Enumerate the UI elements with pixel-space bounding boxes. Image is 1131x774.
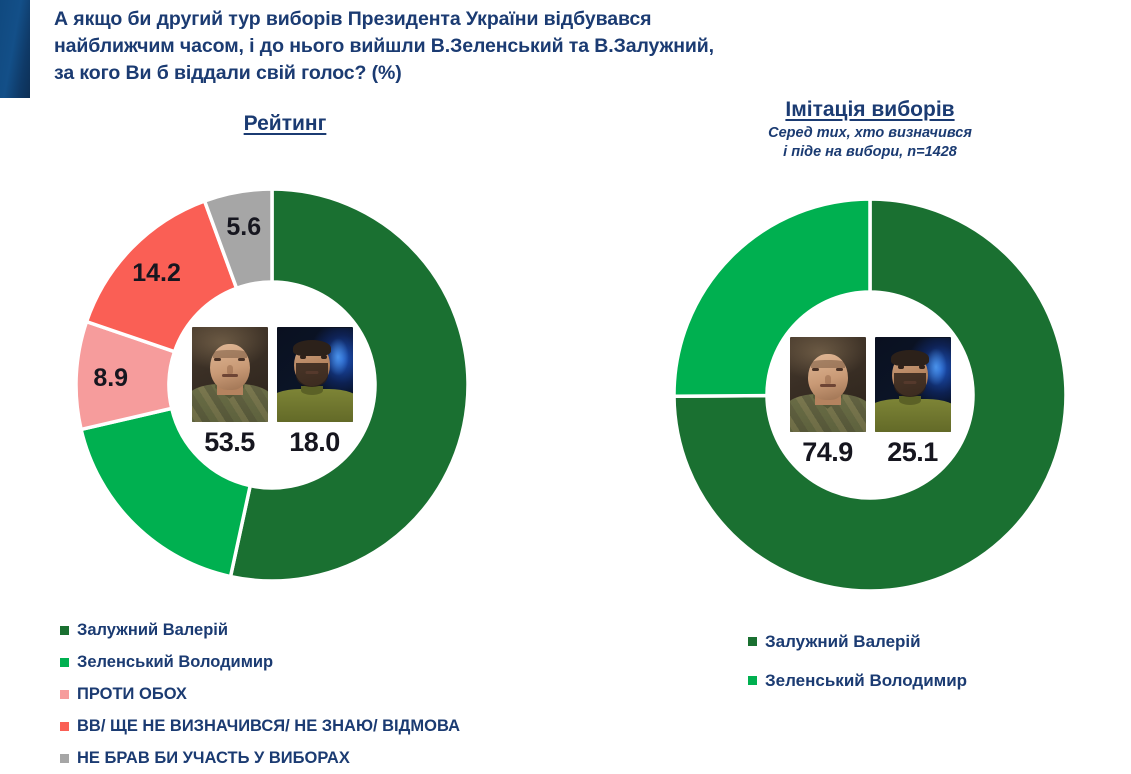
rating-donut-chart: 8.914.25.6 53.5 [72,185,472,585]
rating-donut-svg: 8.914.25.6 [72,185,472,585]
simulation-donut-svg [670,195,1070,595]
legend-item[interactable]: Зеленський Володимир [60,646,460,678]
page-title: А якщо би другий тур виборів Президента … [54,6,854,87]
donut-slice-1[interactable] [674,199,870,396]
slide-canvas: А якщо би другий тур виборів Президента … [0,0,1131,768]
legend-label: Зеленський Володимир [765,672,967,690]
legend-swatch-icon [60,690,69,699]
rating-slices-accurate [76,189,468,581]
brand-accent-bar [0,0,30,98]
legend-label: НЕ БРАВ БИ УЧАСТЬ У ВИБОРАХ [77,749,350,767]
legend-label: Залужний Валерій [77,621,228,639]
legend-item[interactable]: Залужний Валерій [60,614,460,646]
legend-swatch-icon [60,722,69,731]
legend-label: Зеленський Володимир [77,653,273,671]
legend-label: ВВ/ ЩЕ НЕ ВИЗНАЧИВСЯ/ НЕ ЗНАЮ/ ВІДМОВА [77,717,460,735]
legend-swatch-icon [748,637,757,646]
left-chart-title: Рейтинг [244,112,327,136]
legend-swatch-icon [748,676,757,685]
legend-item[interactable]: ВВ/ ЩЕ НЕ ВИЗНАЧИВСЯ/ НЕ ЗНАЮ/ ВІДМОВА [60,710,460,742]
right-chart-heading: Імітація виборів Серед тих, хто визначив… [700,98,1040,162]
legend-item[interactable]: НЕ БРАВ БИ УЧАСТЬ У ВИБОРАХ [60,742,460,774]
slice-value-label: 5.6 [226,213,261,241]
simulation-donut-chart: 74.9 25.1 [670,195,1070,595]
slice-value-label: 8.9 [93,364,128,392]
legend-label: Залужний Валерій [765,633,921,651]
simulation-legend: Залужний Валерій Зеленський Володимир [748,622,967,700]
legend-item[interactable]: Залужний Валерій [748,622,967,661]
simulation-slices [674,199,1066,591]
legend-item[interactable]: Зеленський Володимир [748,661,967,700]
legend-swatch-icon [60,754,69,763]
left-chart-heading: Рейтинг [140,112,430,136]
donut-slice-1[interactable] [81,408,250,576]
right-chart-subtitle: Серед тих, хто визначився і піде на вибо… [700,124,1040,162]
legend-item[interactable]: ПРОТИ ОБОХ [60,678,460,710]
legend-label: ПРОТИ ОБОХ [77,685,187,703]
slice-value-label: 14.2 [132,259,181,287]
rating-legend: Залужний Валерій Зеленський Володимир ПР… [60,614,460,774]
legend-swatch-icon [60,626,69,635]
legend-swatch-icon [60,658,69,667]
right-chart-title: Імітація виборів [785,98,954,122]
